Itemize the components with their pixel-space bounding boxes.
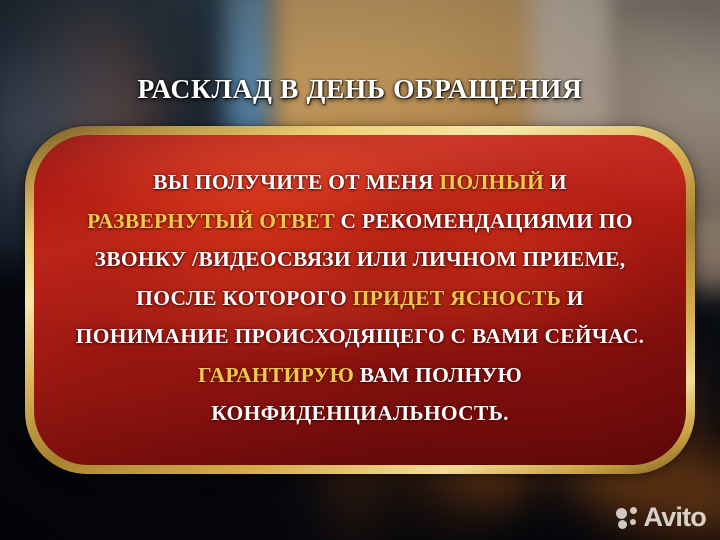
promo-banner: РАСКЛАД В ДЕНЬ ОБРАЩЕНИЯ ВЫ ПОЛУЧИТЕ ОТ …	[0, 0, 720, 540]
avito-logo-circle-4	[630, 519, 636, 525]
plain-text: И	[544, 170, 567, 194]
avito-watermark: Avito	[616, 504, 707, 531]
panel-text-line: ЗВОНКУ /ВИДЕОСВЯЗИ ИЛИ ЛИЧНОМ ПРИЕМЕ,	[48, 240, 672, 279]
avito-logo-icon	[616, 507, 640, 529]
panel-inner-surface: ВЫ ПОЛУЧИТЕ ОТ МЕНЯ ПОЛНЫЙ ИРАЗВЕРНУТЫЙ …	[34, 135, 686, 465]
panel-text-line: КОНФИДЕНЦИАЛЬНОСТЬ.	[48, 394, 672, 433]
avito-logo-circle-3	[618, 520, 627, 529]
plain-text: ВАМ ПОЛНУЮ	[354, 363, 522, 387]
plain-text: И	[561, 286, 584, 310]
panel-text-line: ГАРАНТИРУЮ ВАМ ПОЛНУЮ	[48, 356, 672, 395]
plain-text: С РЕКОМЕНДАЦИЯМИ ПО	[335, 209, 633, 233]
panel-body-text: ВЫ ПОЛУЧИТЕ ОТ МЕНЯ ПОЛНЫЙ ИРАЗВЕРНУТЫЙ …	[34, 163, 686, 433]
plain-text: ПОСЛЕ КОТОРОГО	[136, 286, 352, 310]
page-title: РАСКЛАД В ДЕНЬ ОБРАЩЕНИЯ	[0, 72, 720, 106]
avito-logo-circle-1	[616, 508, 627, 519]
plain-text: КОНФИДЕНЦИАЛЬНОСТЬ.	[211, 401, 509, 425]
gold-framed-panel: ВЫ ПОЛУЧИТЕ ОТ МЕНЯ ПОЛНЫЙ ИРАЗВЕРНУТЫЙ …	[25, 126, 695, 474]
emphasis-text: ПОЛНЫЙ	[439, 170, 544, 194]
avito-logo-circle-2	[630, 507, 637, 514]
plain-text: ПОНИМАНИЕ ПРОИСХОДЯЩЕГО С ВАМИ СЕЙЧАС.	[76, 324, 645, 348]
emphasis-text: ГАРАНТИРУЮ	[198, 363, 354, 387]
panel-text-line: ПОНИМАНИЕ ПРОИСХОДЯЩЕГО С ВАМИ СЕЙЧАС.	[48, 317, 672, 356]
panel-text-line: ПОСЛЕ КОТОРОГО ПРИДЕТ ЯСНОСТЬ И	[48, 279, 672, 318]
panel-text-line: РАЗВЕРНУТЫЙ ОТВЕТ С РЕКОМЕНДАЦИЯМИ ПО	[48, 202, 672, 241]
emphasis-text: РАЗВЕРНУТЫЙ ОТВЕТ	[87, 209, 335, 233]
panel-text-line: ВЫ ПОЛУЧИТЕ ОТ МЕНЯ ПОЛНЫЙ И	[48, 163, 672, 202]
plain-text: ЗВОНКУ /ВИДЕОСВЯЗИ ИЛИ ЛИЧНОМ ПРИЕМЕ,	[95, 247, 626, 271]
plain-text: ВЫ ПОЛУЧИТЕ ОТ МЕНЯ	[153, 170, 439, 194]
emphasis-text: ПРИДЕТ ЯСНОСТЬ	[353, 286, 561, 310]
avito-wordmark: Avito	[644, 504, 707, 531]
